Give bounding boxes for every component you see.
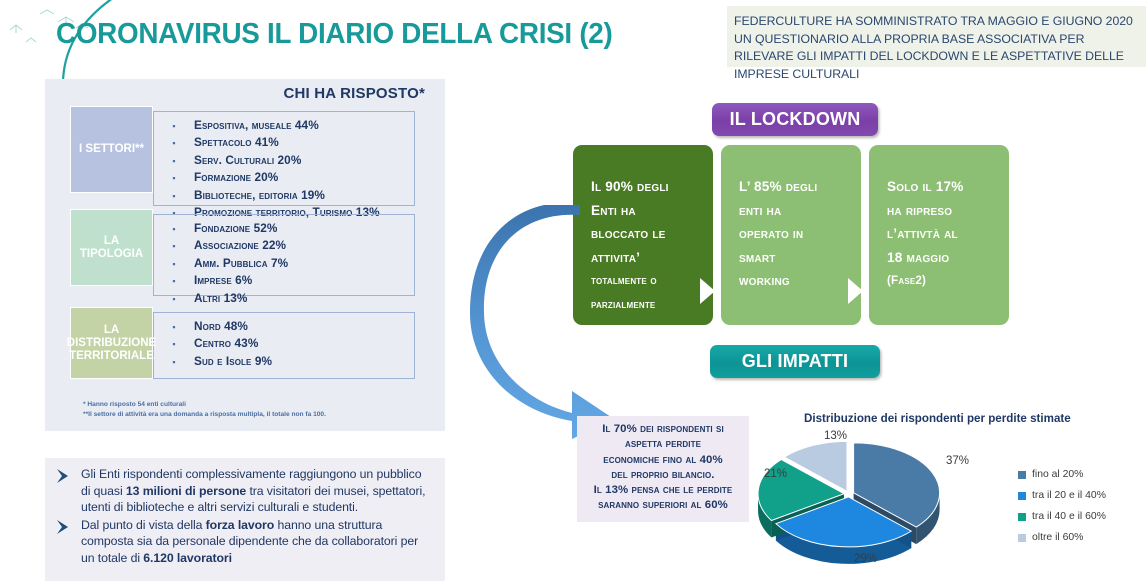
page-title: CORONAVIRUS IL DIARIO DELLA CRISI (2) [56, 18, 612, 51]
list-item-label: Amm. Pubblica 7% [194, 255, 288, 271]
badge-lockdown: IL LOCKDOWN [712, 103, 878, 136]
list-item: ▪Serv. Culturali 20% [154, 152, 414, 169]
lockdown-card-2: L’ 85% degli enti ha operato in smart wo… [721, 145, 861, 325]
list-item: ▪Biblioteche, editoria 19% [154, 187, 414, 204]
impact-line: saranno superiori al 60% [583, 498, 743, 513]
card-line: working [739, 269, 861, 293]
group-tipologia-body: ▪Fondazione 52% ▪Associazione 22% ▪Amm. … [153, 214, 415, 296]
bullet-icon: ▪ [154, 238, 194, 254]
bullet-icon: ▪ [154, 291, 194, 307]
pie-label-0: 37% [946, 455, 969, 467]
text-strong: 6.120 lavoratori [143, 551, 232, 565]
list-item: ▪Amm. Pubblica 7% [154, 255, 414, 272]
pie-label-2: 21% [764, 468, 787, 480]
bullet-icon: ▪ [154, 135, 194, 151]
list-item-label: Sud e Isole 9% [194, 353, 272, 369]
text-part: Dal punto di vista della [81, 518, 206, 532]
summary-bullet: Dal punto di vista della forza lavoro ha… [55, 517, 433, 567]
legend-item: fino al 20% [1018, 464, 1106, 485]
list-item-label: Espositiva, museale 44% [194, 117, 319, 133]
bullet-icon: ▪ [154, 221, 194, 237]
pie-label-1: 29% [854, 553, 877, 565]
list-item: ▪Imprese 6% [154, 272, 414, 289]
pie-chart [756, 428, 1021, 581]
group-settori-body: ▪Espositiva, museale 44% ▪Spettacolo 41%… [153, 111, 415, 206]
legend-swatch-icon [1018, 471, 1026, 479]
list-item-label: Imprese 6% [194, 272, 252, 288]
list-item-label: Spettacolo 41% [194, 134, 279, 150]
legend-label: tra il 20 e il 40% [1032, 490, 1106, 501]
list-item: ▪Sud e Isole 9% [154, 353, 414, 370]
bullet-icon: ▪ [154, 336, 194, 352]
card-line: ha ripreso [887, 199, 1009, 223]
bullet-icon: ▪ [154, 118, 194, 134]
group-distribuzione: ▪Nord 48% ▪Centro 43% ▪Sud e Isole 9% LA… [70, 307, 415, 387]
bullet-icon: ▪ [154, 188, 194, 204]
chart-title: Distribuzione dei rispondenti per perdit… [804, 412, 1071, 425]
chevron-right-icon [55, 517, 81, 540]
list-item: ▪Nord 48% [154, 318, 414, 335]
card-line: smart [739, 246, 861, 270]
text-strong: 13 milioni di persone [126, 484, 246, 498]
list-item: ▪Centro 43% [154, 335, 414, 352]
bullet-icon: ▪ [154, 256, 194, 272]
card-chevron-icon-1 [700, 278, 715, 304]
impact-line: economiche fino al 40% [583, 453, 743, 468]
footnote-2: **Il settore di attività era una domanda… [83, 410, 413, 420]
respondents-panel-heading: CHI HA RISPOSTO* [283, 85, 425, 102]
list-item-label: Centro 43% [194, 335, 258, 351]
list-item: ▪Altri 13% [154, 290, 414, 307]
card-line: (Fase2) [887, 269, 1009, 293]
group-distribuzione-body: ▪Nord 48% ▪Centro 43% ▪Sud e Isole 9% [153, 312, 415, 379]
list-item-label: Fondazione 52% [194, 220, 278, 236]
bullet-icon: ▪ [154, 153, 194, 169]
list-item: ▪Formazione 20% [154, 169, 414, 186]
card-line: 18 maggio [887, 246, 1009, 270]
lockdown-card-3: Solo il 17% ha ripreso l’attivtà al 18 m… [869, 145, 1009, 325]
group-tipologia: ▪Fondazione 52% ▪Associazione 22% ▪Amm. … [70, 209, 415, 299]
group-distribuzione-tab: LA DISTRIBUZIONE TERRITORIALE [70, 307, 153, 379]
summary-bullet-text: Gli Enti rispondenti complessivamente ra… [81, 466, 433, 516]
impact-line: aspetta perdite [583, 437, 743, 452]
impacts-text-box: Il 70% dei rispondenti si aspetta perdit… [577, 416, 749, 522]
list-item: ▪Espositiva, museale 44% [154, 117, 414, 134]
card-line: Solo il 17% [887, 175, 1009, 199]
list-item-label: Nord 48% [194, 318, 248, 334]
legend-item: tra il 20 e il 40% [1018, 485, 1106, 506]
list-item: ▪Fondazione 52% [154, 220, 414, 237]
intro-text: FEDERCULTURE HA SOMMINISTRATO TRA MAGGIO… [727, 6, 1146, 67]
respondents-panel: CHI HA RISPOSTO* ▪Espositiva, museale 44… [45, 79, 445, 431]
list-item-label: Altri 13% [194, 290, 248, 306]
legend-label: oltre il 60% [1032, 532, 1083, 543]
impact-line: del proprio bilancio. [583, 468, 743, 483]
list-item: ▪Spettacolo 41% [154, 134, 414, 151]
card-line: operato in [739, 222, 861, 246]
group-settori: ▪Espositiva, museale 44% ▪Spettacolo 41%… [70, 106, 415, 206]
group-settori-tab: I SETTORI** [70, 106, 153, 193]
card-line: Il 90% degli [591, 175, 713, 199]
legend-label: tra il 40 e il 60% [1032, 511, 1106, 522]
legend-swatch-icon [1018, 513, 1026, 521]
infographic-page: CORONAVIRUS IL DIARIO DELLA CRISI (2) FE… [0, 0, 1146, 581]
list-item-label: Formazione 20% [194, 169, 278, 185]
text-strong: forza lavoro [206, 518, 275, 532]
panel-footnotes: * Hanno risposto 54 enti culturali **Il … [83, 400, 413, 419]
bullet-icon: ▪ [154, 354, 194, 370]
summary-bullet-text: Dal punto di vista della forza lavoro ha… [81, 517, 433, 567]
list-item-label: Biblioteche, editoria 19% [194, 187, 325, 203]
card-line: L’ 85% degli [739, 175, 861, 199]
summary-bullet: Gli Enti rispondenti complessivamente ra… [55, 466, 433, 516]
card-line: l’attivtà al [887, 222, 1009, 246]
footnote-1: * Hanno risposto 54 enti culturali [83, 400, 413, 410]
list-item-label: Associazione 22% [194, 237, 286, 253]
pie-label-3: 13% [824, 430, 847, 442]
list-item: ▪Associazione 22% [154, 237, 414, 254]
flow-arrow-icon [468, 205, 618, 440]
bullet-icon: ▪ [154, 170, 194, 186]
legend-swatch-icon [1018, 534, 1026, 542]
list-item-label: Serv. Culturali 20% [194, 152, 301, 168]
group-tipologia-tab: LA TIPOLOGIA [70, 209, 153, 286]
impact-line: Il 13% pensa che le perdite [583, 483, 743, 498]
legend-label: fino al 20% [1032, 469, 1083, 480]
card-chevron-icon-2 [848, 278, 863, 304]
badge-impatti: GLI IMPATTI [710, 345, 880, 378]
chevron-right-icon [55, 466, 81, 489]
legend-item: oltre il 60% [1018, 527, 1106, 548]
card-line: enti ha [739, 199, 861, 223]
impact-line: Il 70% dei rispondenti si [583, 422, 743, 437]
bullet-icon: ▪ [154, 319, 194, 335]
legend-swatch-icon [1018, 492, 1026, 500]
chart-legend: fino al 20% tra il 20 e il 40% tra il 40… [1018, 464, 1106, 548]
bullet-icon: ▪ [154, 273, 194, 289]
legend-item: tra il 40 e il 60% [1018, 506, 1106, 527]
summary-panel: Gli Enti rispondenti complessivamente ra… [45, 458, 445, 581]
